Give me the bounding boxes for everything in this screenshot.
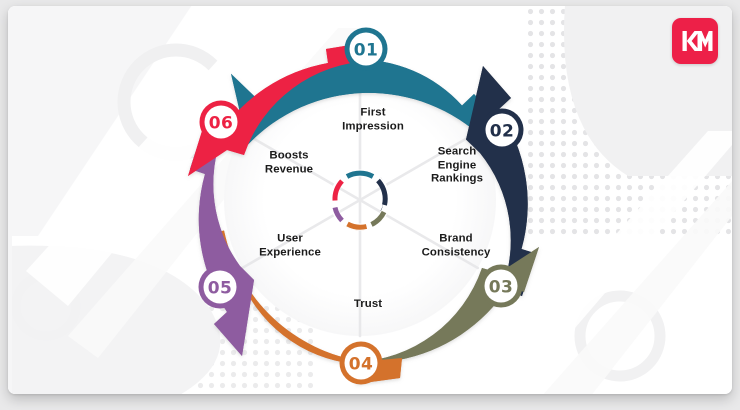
step-badge-05-number: 05 xyxy=(208,279,232,299)
step-badge-02-number: 02 xyxy=(490,122,514,142)
km-logo xyxy=(672,18,718,64)
cycle-wheel: 01 02 03 xyxy=(150,6,570,386)
step-badge-06[interactable]: 06 xyxy=(200,101,243,144)
step-badge-02[interactable]: 02 xyxy=(481,109,524,152)
step-badge-04-number: 04 xyxy=(349,355,373,375)
step-badge-04[interactable]: 04 xyxy=(340,342,383,385)
km-logo-mark xyxy=(672,18,718,64)
step-badge-03-number: 03 xyxy=(489,278,513,298)
cycle-wheel-graphic: 01 02 03 xyxy=(150,6,570,394)
step-badge-01[interactable]: 01 xyxy=(345,28,388,71)
step-badge-06-number: 06 xyxy=(209,114,233,134)
infographic-canvas: 01 02 03 xyxy=(0,0,740,410)
step-badge-03[interactable]: 03 xyxy=(480,265,523,308)
step-badge-05[interactable]: 05 xyxy=(199,266,242,309)
step-badge-01-number: 01 xyxy=(354,41,378,61)
infographic-card: 01 02 03 xyxy=(8,6,732,394)
